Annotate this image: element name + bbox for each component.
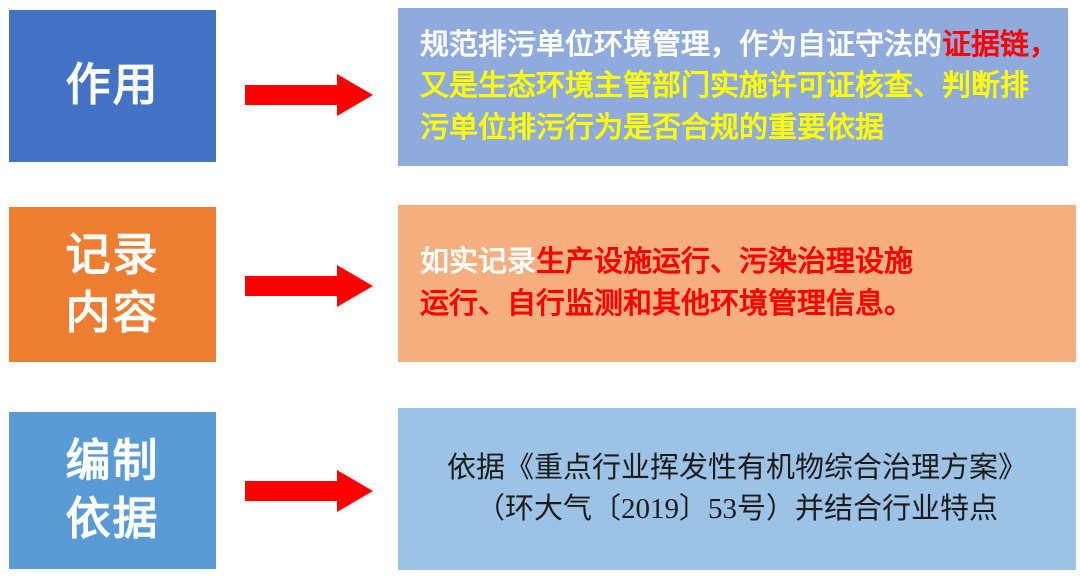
content-line: （环大气〔2019〕53号）并结合行业特点 — [416, 489, 1058, 530]
content-span-highlight: 证据链， — [942, 29, 1058, 61]
right-arrow-icon — [245, 265, 373, 312]
content-span: 规范排污单位环境管理，作为自证守法的 — [420, 29, 942, 61]
content-panel-purpose: 规范排污单位环境管理，作为自证守法的证据链， 又是生态环境主管部门实施许可证核查… — [398, 8, 1068, 166]
label-box-purpose: 作用 — [9, 10, 216, 162]
label-line: 编制 — [65, 433, 159, 491]
row-record-content: 记录 内容 如实记录生产设施运行、污染治理设施 运行、自行监测和其他环境管理信息… — [0, 195, 1080, 400]
content-span: 依据《重点行业挥发性有机物综合治理方案》 — [447, 452, 1027, 484]
label-line: 依据 — [65, 491, 159, 549]
content-line: 污单位排污行为是否合规的重要依据 — [420, 108, 1046, 149]
label-box-basis: 编制 依据 — [9, 412, 216, 569]
slide-canvas: 作用 规范排污单位环境管理，作为自证守法的证据链， 又是生态环境主管部门实施许可… — [0, 0, 1080, 579]
content-line: 依据《重点行业挥发性有机物综合治理方案》 — [416, 448, 1058, 489]
row-purpose: 作用 规范排污单位环境管理，作为自证守法的证据链， 又是生态环境主管部门实施许可… — [0, 0, 1080, 195]
content-span: 如实记录 — [420, 246, 536, 278]
label-line: 记录 — [65, 227, 159, 285]
content-span: （环大气〔2019〕53号）并结合行业特点 — [476, 493, 998, 525]
right-arrow-icon — [245, 74, 373, 121]
content-span: 运行、自行监测和其他环境管理信息。 — [420, 288, 913, 320]
label-line: 内容 — [65, 285, 159, 343]
content-line: 又是生态环境主管部门实施许可证核查、判断排 — [420, 66, 1046, 107]
content-span: 污单位排污行为是否合规的重要依据 — [420, 112, 884, 144]
content-span-highlight: 生产设施运行、污染治理设施 — [536, 246, 913, 278]
content-span: 又是生态环境主管部门实施许可证核查、判断排 — [420, 70, 1029, 102]
right-arrow-icon — [245, 470, 373, 517]
content-line: 规范排污单位环境管理，作为自证守法的证据链， — [420, 25, 1046, 66]
label-line: 作用 — [65, 57, 159, 115]
content-line: 如实记录生产设施运行、污染治理设施 — [420, 242, 1054, 283]
content-line: 运行、自行监测和其他环境管理信息。 — [420, 284, 1054, 325]
label-box-record-content: 记录 内容 — [9, 207, 216, 362]
row-basis: 编制 依据 依据《重点行业挥发性有机物综合治理方案》 （环大气〔2019〕53号… — [0, 400, 1080, 579]
content-panel-record-content: 如实记录生产设施运行、污染治理设施 运行、自行监测和其他环境管理信息。 — [398, 205, 1076, 362]
content-panel-basis: 依据《重点行业挥发性有机物综合治理方案》 （环大气〔2019〕53号）并结合行业… — [398, 408, 1076, 570]
